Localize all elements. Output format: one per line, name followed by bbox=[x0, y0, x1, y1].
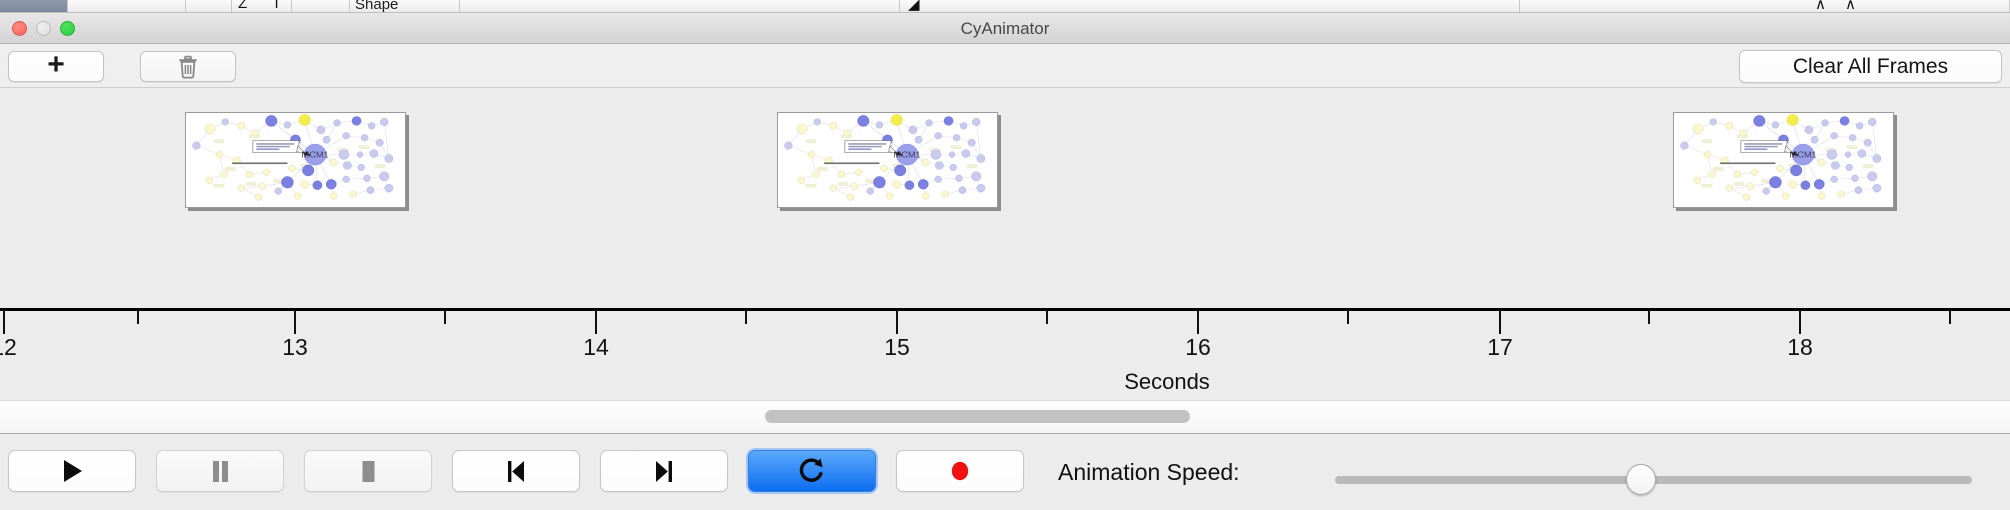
bg-seg bbox=[186, 0, 232, 13]
axis-tick-major bbox=[1799, 311, 1801, 334]
bg-seg bbox=[900, 0, 1520, 13]
skip-to-end-button[interactable] bbox=[600, 450, 728, 492]
axis-tick-label: 18 bbox=[1787, 334, 1813, 361]
axis-tick-major bbox=[294, 311, 296, 334]
axis-tick-label: 13 bbox=[282, 334, 308, 361]
add-frame-button[interactable]: + bbox=[8, 51, 104, 82]
record-icon bbox=[947, 457, 973, 485]
axis-tick-label: 16 bbox=[1185, 334, 1211, 361]
title-bar: CyAnimator bbox=[0, 13, 2010, 44]
axis-tick-major bbox=[1499, 311, 1501, 334]
frame-network-graph: MCM1 bbox=[1674, 113, 1893, 207]
frame-network-graph: MCM1 bbox=[186, 113, 405, 207]
bg-seg bbox=[460, 0, 900, 13]
axis-tick-minor bbox=[1046, 311, 1048, 324]
timeline-scrollbar[interactable] bbox=[0, 400, 2010, 434]
bg-glyph: Z bbox=[238, 0, 247, 12]
axis-title: Seconds bbox=[1124, 369, 1210, 395]
frames-panel[interactable]: MCM1MCM1MCM1 bbox=[0, 88, 2010, 316]
bg-seg-selected bbox=[0, 0, 68, 13]
scrollbar-thumb[interactable] bbox=[765, 410, 1190, 423]
animation-speed-label: Animation Speed: bbox=[1058, 459, 1240, 486]
record-button[interactable] bbox=[896, 450, 1024, 492]
axis-tick-label: 14 bbox=[583, 334, 609, 361]
axis-tick-major bbox=[3, 311, 5, 334]
stop-icon bbox=[355, 457, 381, 485]
bg-seg bbox=[1520, 0, 2010, 13]
axis-tick-minor bbox=[1949, 311, 1951, 324]
axis-tick-minor bbox=[1648, 311, 1650, 324]
axis-tick-minor bbox=[137, 311, 139, 324]
timeline-axis[interactable]: 12131415161718 Seconds bbox=[0, 308, 2010, 400]
axis-line bbox=[0, 308, 2010, 311]
frames-toolbar: + Clear All Frames bbox=[0, 44, 2010, 88]
frame-network-graph: MCM1 bbox=[778, 113, 997, 207]
bg-glyph: ◢ bbox=[908, 0, 920, 13]
animation-speed-slider[interactable] bbox=[1335, 476, 2010, 484]
cyanimator-window: Z T ◢ Shape ∧ ∧ CyAnimator + bbox=[0, 0, 2010, 510]
skip-to-start-icon bbox=[503, 457, 529, 485]
axis-tick-major bbox=[595, 311, 597, 334]
bg-seg bbox=[292, 0, 350, 13]
axis-tick-label: 17 bbox=[1487, 334, 1513, 361]
bg-glyph: ∧ bbox=[1815, 0, 1826, 13]
axis-tick-major bbox=[896, 311, 898, 334]
pause-button[interactable] bbox=[156, 450, 284, 492]
svg-text:MCM1: MCM1 bbox=[302, 150, 329, 159]
bg-window-label: Shape bbox=[355, 0, 398, 13]
axis-tick-major bbox=[1197, 311, 1199, 334]
delete-frame-button[interactable] bbox=[140, 51, 236, 82]
clear-all-frames-label: Clear All Frames bbox=[1793, 55, 1948, 79]
axis-tick-label: 12 bbox=[0, 334, 17, 361]
svg-text:MCM1: MCM1 bbox=[1790, 150, 1817, 159]
slider-thumb[interactable] bbox=[1626, 464, 1656, 495]
skip-to-end-icon bbox=[651, 457, 677, 485]
loop-icon bbox=[798, 456, 826, 486]
background-window-strip: Z T ◢ Shape ∧ ∧ bbox=[0, 0, 2010, 13]
axis-tick-minor bbox=[1347, 311, 1349, 324]
loop-button[interactable] bbox=[748, 450, 876, 492]
trash-icon bbox=[177, 55, 199, 79]
clear-all-frames-button[interactable]: Clear All Frames bbox=[1739, 50, 2002, 83]
play-button[interactable] bbox=[8, 450, 136, 492]
timeline-frame[interactable]: MCM1 bbox=[185, 112, 406, 208]
bg-seg bbox=[68, 0, 186, 13]
stop-button[interactable] bbox=[304, 450, 432, 492]
transport-bar: Animation Speed: bbox=[0, 435, 2010, 510]
plus-icon: + bbox=[47, 50, 65, 80]
axis-tick-minor bbox=[444, 311, 446, 324]
bg-glyph: T bbox=[272, 0, 281, 12]
pause-icon bbox=[207, 457, 233, 485]
window-title: CyAnimator bbox=[0, 13, 2010, 44]
timeline-frame[interactable]: MCM1 bbox=[1673, 112, 1894, 208]
skip-to-start-button[interactable] bbox=[452, 450, 580, 492]
timeline-frame[interactable]: MCM1 bbox=[777, 112, 998, 208]
play-icon bbox=[59, 457, 85, 485]
axis-tick-label: 15 bbox=[884, 334, 910, 361]
bg-glyph: ∧ bbox=[1845, 0, 1856, 13]
svg-text:MCM1: MCM1 bbox=[894, 150, 921, 159]
axis-tick-minor bbox=[745, 311, 747, 324]
